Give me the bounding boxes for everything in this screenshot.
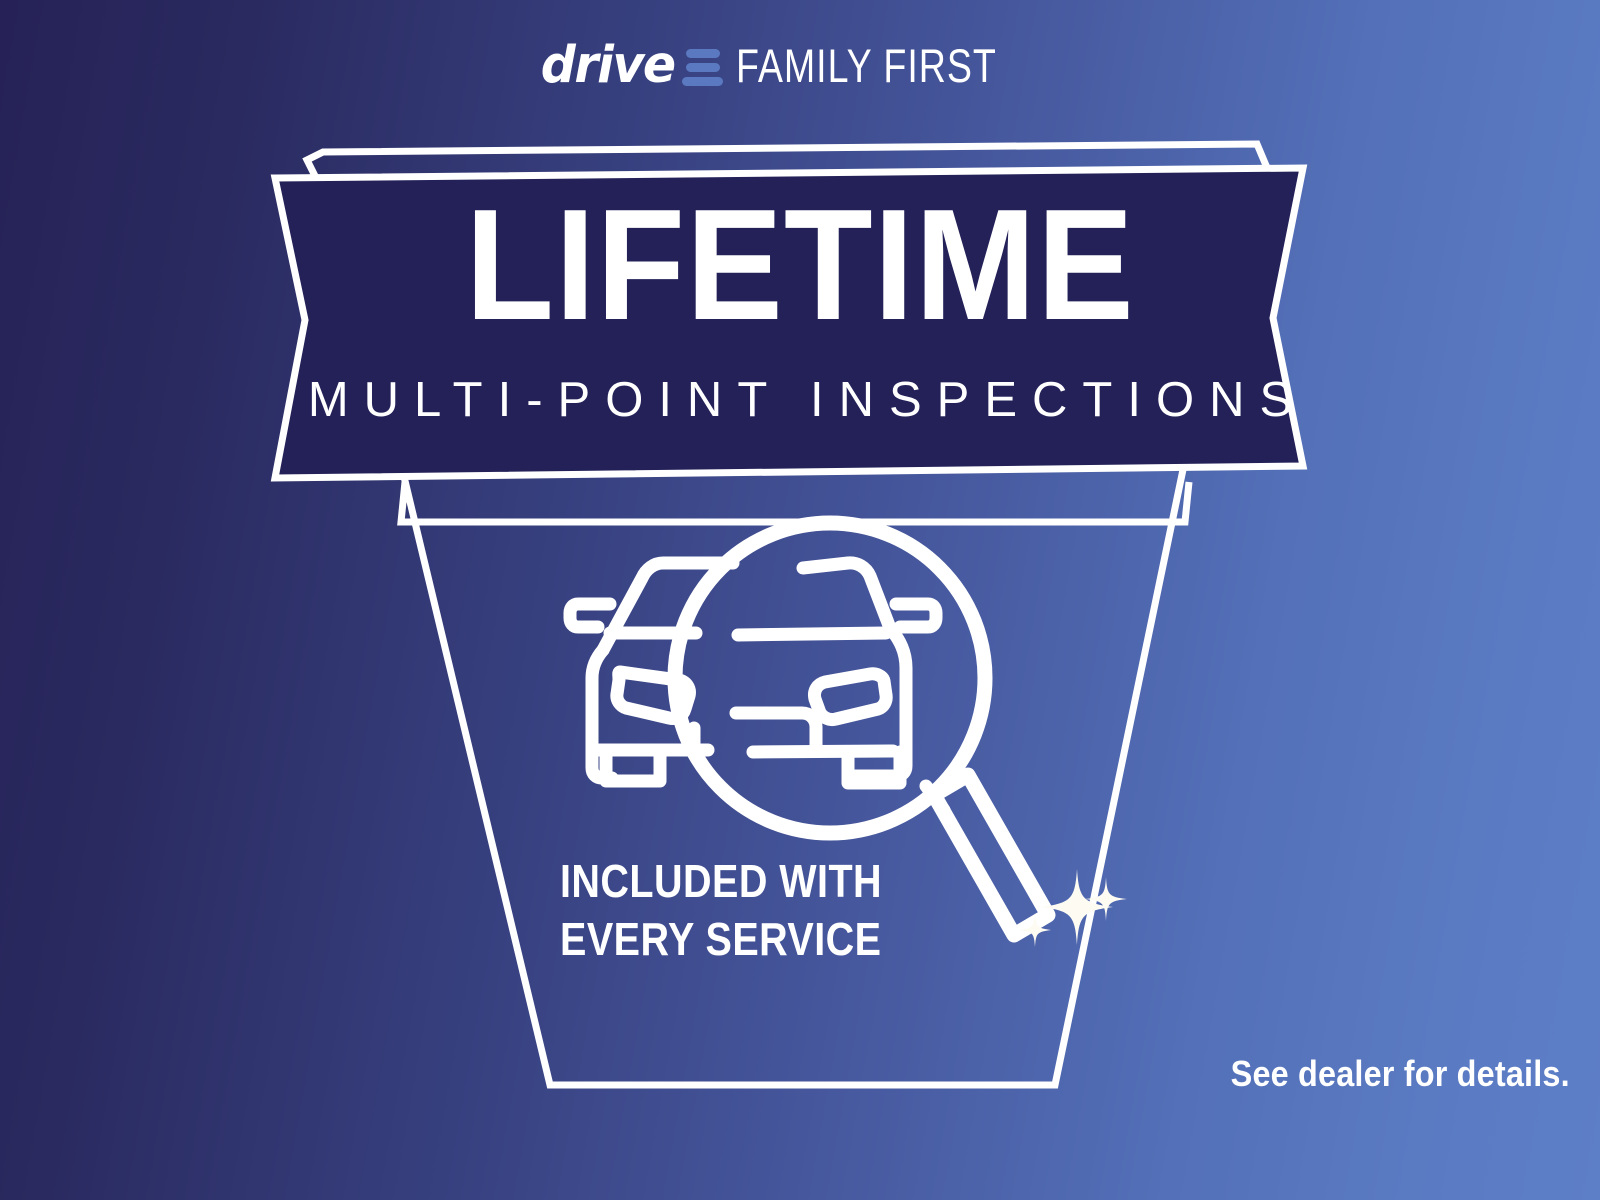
benefit-line-1: INCLUDED WITH [560,852,882,910]
badge-headline: LIFETIME [64,186,1536,344]
benefit-line-2: EVERY SERVICE [560,910,882,968]
three-bars-icon [682,49,723,86]
magnified-car-icon [736,563,936,783]
background-car-icon [570,563,733,781]
badge-subhead: MULTI-POINT INSPECTIONS [0,376,1600,425]
brand-header: drive FAMILY FIRST [0,34,1600,96]
sparkle-stars-icon [1005,855,1145,995]
benefit-text: INCLUDED WITH EVERY SERVICE [560,852,882,968]
brand-tagline: FAMILY FIRST [736,38,997,93]
disclaimer-text: See dealer for details. [1231,1053,1570,1095]
brand-wordmark: drive [541,40,675,91]
promo-graphic: drive FAMILY FIRST LIFETIME MULTI-POINT … [0,0,1600,1200]
